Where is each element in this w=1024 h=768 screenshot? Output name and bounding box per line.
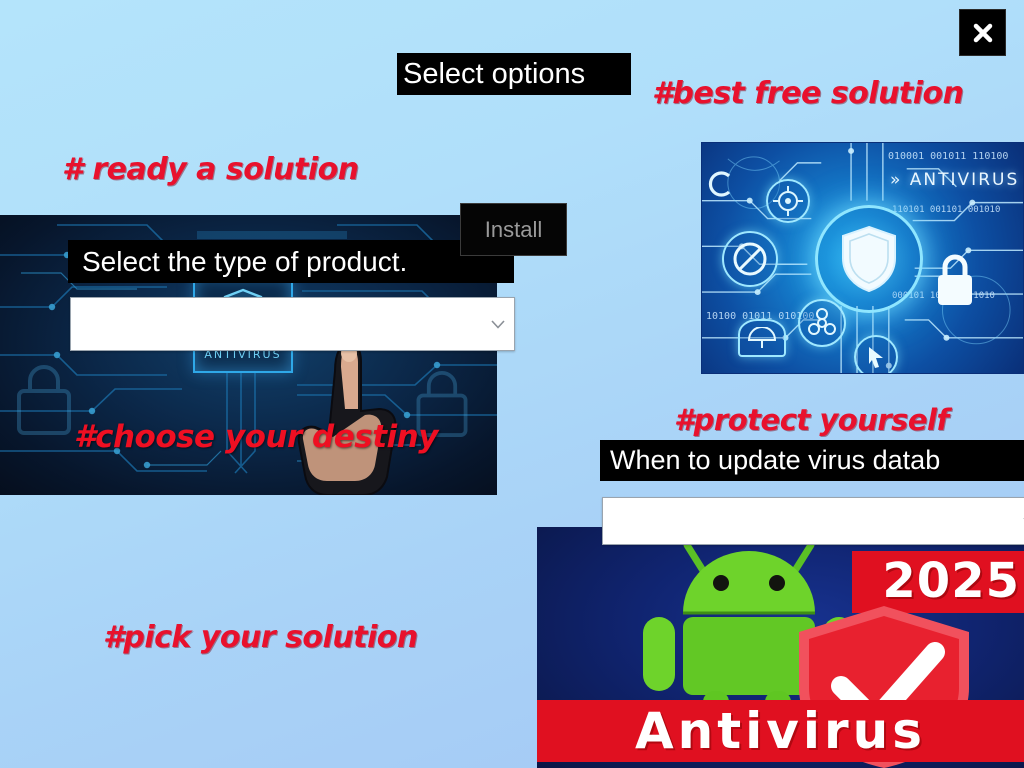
update-database-label: When to update virus datab	[600, 440, 1024, 481]
biohazard-icon	[798, 299, 846, 347]
binary-text-top: 010001 001011 110100	[888, 151, 1008, 162]
mouse-pointer-icon	[866, 345, 886, 369]
shield-hub	[815, 205, 923, 313]
app-window: ANTIVIRUS	[0, 0, 1024, 768]
install-button[interactable]: Install	[460, 203, 567, 256]
biohazard-icon	[807, 308, 837, 338]
no-entry-icon	[732, 241, 768, 277]
lock-icon	[930, 251, 980, 309]
copyright-icon	[704, 167, 738, 201]
antivirus-shield-image-right: 010001 001011 110100 » ANTIVIRUS « 11010…	[701, 142, 1024, 374]
crosshair-icon	[773, 186, 803, 216]
hashtag-pick-your-solution: #pick your solution	[103, 620, 418, 655]
product-type-label: Select the type of product.	[68, 240, 514, 283]
cursor-icon	[854, 335, 898, 374]
close-icon	[972, 22, 994, 44]
umbrella-icon	[747, 327, 777, 349]
pointing-hand-icon	[283, 337, 409, 495]
product-type-select[interactable]	[70, 297, 515, 351]
umbrella-icon	[738, 319, 786, 357]
android-antivirus-image: 2025 Antivirus	[537, 527, 1024, 768]
hashtag-protect-yourself: #protect yourself	[674, 403, 949, 437]
shield-icon	[838, 224, 900, 294]
target-icon	[766, 179, 810, 223]
hashtag-choose-your-destiny: #choose your destiny	[74, 419, 438, 455]
update-database-select[interactable]	[602, 497, 1024, 545]
binary-text-mid: 110101 001101 001010	[892, 205, 1000, 215]
chevron-down-icon[interactable]	[488, 298, 508, 350]
page-title: Select options	[397, 53, 631, 95]
android-title-text: Antivirus	[635, 702, 926, 760]
android-title-banner: Antivirus	[537, 700, 1024, 762]
hashtag-ready-a-solution: # ready a solution	[62, 152, 359, 187]
close-button[interactable]	[959, 9, 1006, 56]
prohibition-icon	[722, 231, 778, 287]
chevron-down-icon[interactable]	[1020, 498, 1024, 544]
hashtag-best-free-solution: #best free solution	[652, 76, 964, 111]
antivirus-title-text: » ANTIVIRUS «	[890, 170, 1024, 190]
lock-icon	[9, 357, 79, 441]
